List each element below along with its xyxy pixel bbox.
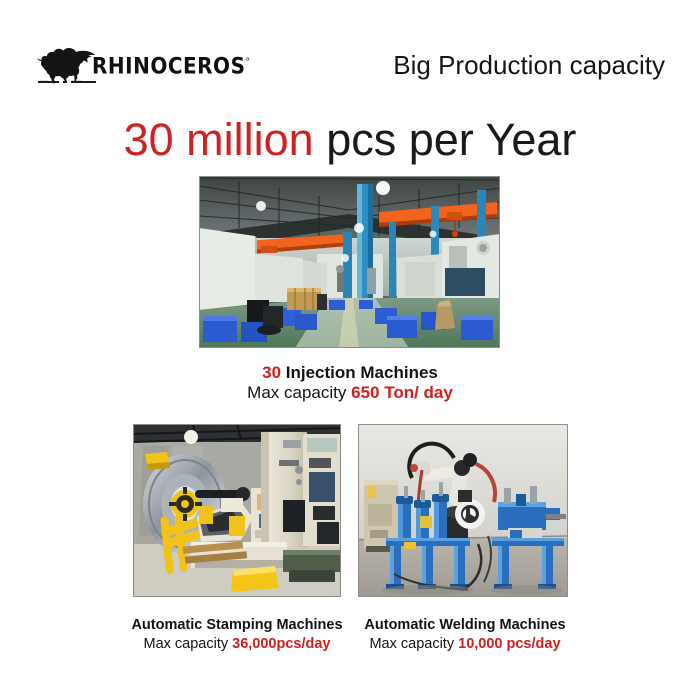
caption-welding-label: Automatic Welding Machines <box>364 617 565 633</box>
caption-injection-line2: Max capacity 650 Ton/ day <box>150 383 550 403</box>
caption-injection-count: 30 <box>262 363 281 382</box>
headline-rest: pcs per Year <box>314 114 577 165</box>
caption-welding: Automatic Welding Machines Max capacity … <box>340 616 590 654</box>
caption-stamping-line1: Automatic Stamping Machines <box>112 616 362 635</box>
logo-microtext-right: ——— <box>72 78 82 82</box>
headline-highlight: 30 million <box>124 114 314 165</box>
caption-welding-line2: Max capacity 10,000 pcs/day <box>340 635 590 654</box>
caption-injection-label: Injection Machines <box>281 363 438 382</box>
brand-logo: ——— ——— RHINOCEROS° <box>36 40 216 88</box>
brand-wordmark: RHINOCEROS° <box>92 55 250 77</box>
caption-injection-line1: 30 Injection Machines <box>150 363 550 383</box>
page-header: ——— ——— RHINOCEROS° Big Production capac… <box>0 0 700 104</box>
caption-welding-prefix: Max capacity <box>369 636 458 652</box>
page-title: Big Production capacity <box>393 50 665 81</box>
brand-wordmark-text: RHINOCEROS <box>92 52 245 79</box>
caption-stamping-prefix: Max capacity <box>143 636 232 652</box>
caption-injection-prefix: Max capacity <box>247 383 351 402</box>
photo-stamping-machine <box>133 424 341 597</box>
caption-stamping-label: Automatic Stamping Machines <box>131 617 342 633</box>
caption-injection-value: 650 Ton/ day <box>351 383 453 402</box>
caption-welding-value: 10,000 pcs/day <box>458 636 560 652</box>
photo-injection-workshop <box>199 176 500 348</box>
caption-stamping-value: 36,000pcs/day <box>232 636 330 652</box>
registered-trademark-icon: ° <box>245 57 250 68</box>
headline: 30 million pcs per Year <box>0 114 700 166</box>
photo-welding-cell <box>358 424 568 597</box>
logo-underline: ——— ——— <box>38 79 96 86</box>
caption-welding-line1: Automatic Welding Machines <box>340 616 590 635</box>
logo-microtext-left: ——— <box>39 78 49 82</box>
caption-stamping-line2: Max capacity 36,000pcs/day <box>112 635 362 654</box>
caption-injection: 30 Injection Machines Max capacity 650 T… <box>150 363 550 403</box>
rhinoceros-logo-icon: ——— ——— <box>36 40 96 88</box>
caption-stamping: Automatic Stamping Machines Max capacity… <box>112 616 362 654</box>
